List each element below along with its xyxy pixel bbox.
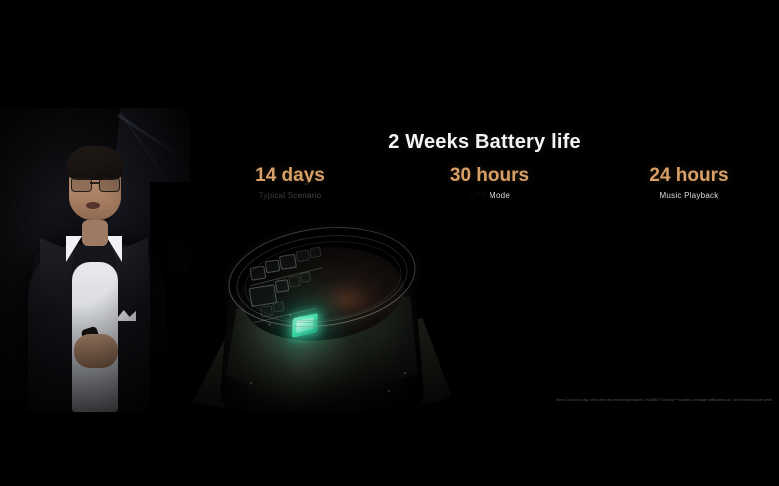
stat-label: Music Playback xyxy=(609,191,769,200)
watch-surface-speck xyxy=(404,372,406,374)
glasses-bridge xyxy=(90,182,99,184)
presenter-video-inset xyxy=(0,108,190,412)
stat-typical-scenario: 14 days Typical Scenario xyxy=(210,166,370,200)
stat-label: Typical Scenario xyxy=(210,191,370,200)
stat-value: 30 hours xyxy=(410,166,570,186)
presenter-glasses xyxy=(70,177,120,190)
stat-value: 14 days xyxy=(210,166,370,186)
letterbox-bottom-bar xyxy=(0,412,779,486)
presenter-neck xyxy=(82,220,108,246)
presenter-hands xyxy=(74,334,118,368)
pcb-solder-point xyxy=(268,323,271,326)
smartwatch-render xyxy=(190,222,450,414)
battery-stats-row: 14 days Typical Scenario 30 hours GPS Mo… xyxy=(210,166,769,200)
presenter-hair xyxy=(66,146,124,180)
presenter-mouth xyxy=(86,202,100,209)
presenter-collar-right xyxy=(106,236,122,262)
slide-title: 2 Weeks Battery life xyxy=(190,131,779,154)
stat-label: GPS Mode xyxy=(410,191,570,200)
watch-surface-speck xyxy=(388,390,390,392)
stat-value: 24 hours xyxy=(609,166,769,186)
presenter-collar-left xyxy=(66,236,82,262)
glasses-lens-right xyxy=(99,177,120,192)
watch-surface-speck xyxy=(250,382,252,384)
disclaimer-fine-print: Worn 24 hours a day, with heart rate mon… xyxy=(473,398,773,403)
stat-music-playback: 24 hours Music Playback xyxy=(609,166,769,200)
stat-gps-mode: 30 hours GPS Mode xyxy=(410,166,570,200)
slide-frame: 2 Weeks Battery life 14 days Typical Sce… xyxy=(0,0,779,486)
glasses-lens-left xyxy=(71,177,92,192)
presenter-figure xyxy=(22,132,172,412)
